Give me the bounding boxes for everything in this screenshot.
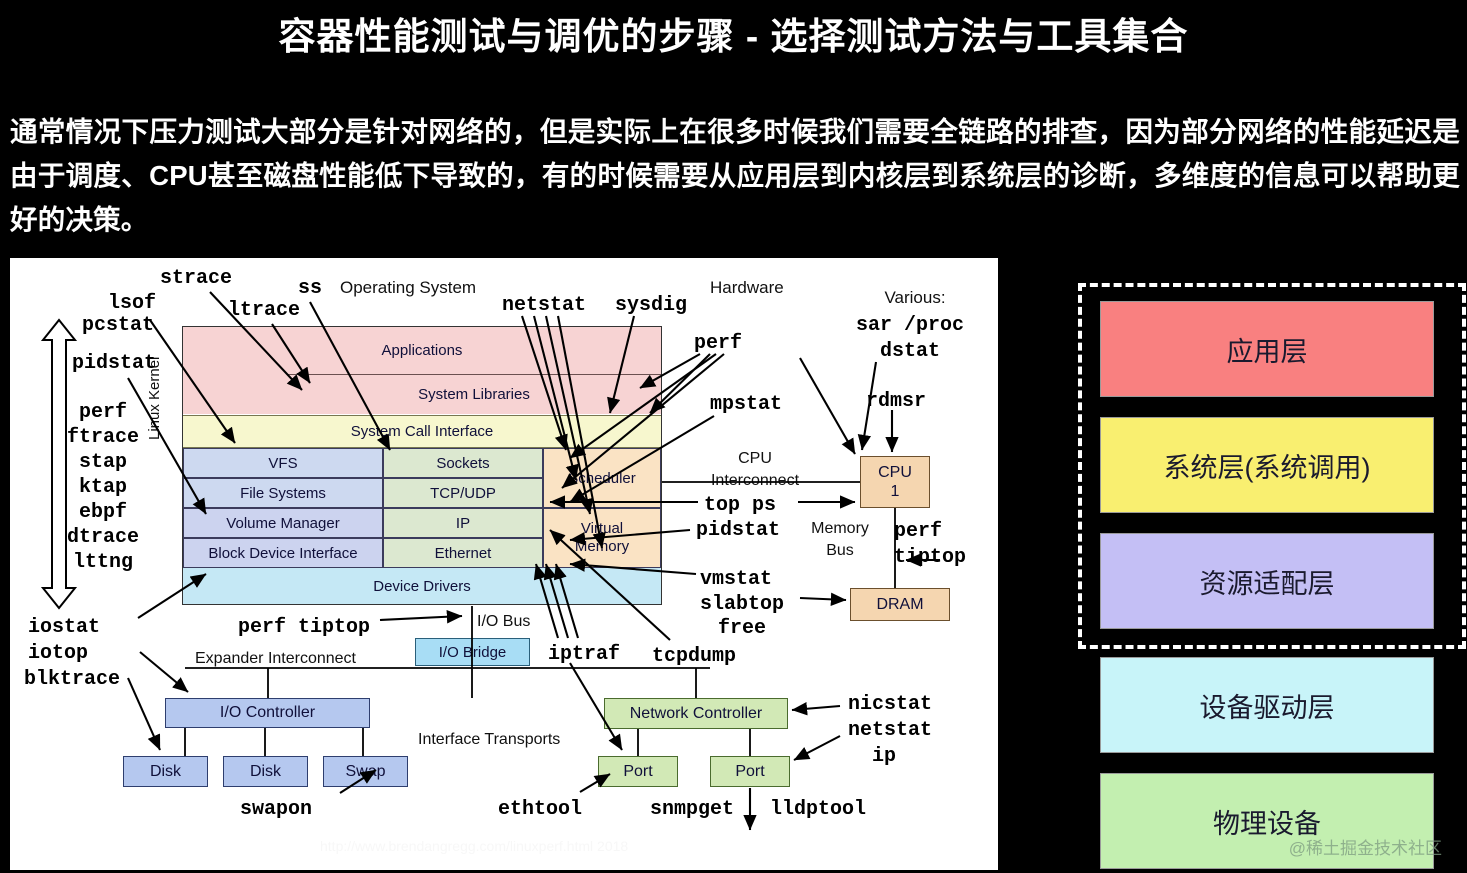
tool-perf-hw: perf: [694, 332, 742, 355]
slide-root: 容器性能测试与调优的步骤 - 选择测试方法与工具集合 通常情况下压力测试大部分是…: [0, 0, 1467, 873]
tool-rdmsr: rdmsr: [866, 390, 926, 413]
box-scheduler: Scheduler: [543, 448, 661, 508]
tool-dtrace: dtrace: [48, 525, 158, 550]
label-hardware: Hardware: [710, 278, 784, 298]
box-device-drivers: Device Drivers: [183, 568, 661, 604]
tool-slabtop: slabtop: [700, 593, 784, 616]
tool-dstat: dstat: [830, 340, 990, 363]
box-volume-manager: Volume Manager: [183, 508, 383, 538]
cpu-interconnect-line1: CPU: [700, 448, 810, 470]
tool-lldptool: lldptool: [770, 798, 866, 821]
tool-swapon: swapon: [240, 798, 312, 821]
tool-sysdig: sysdig: [615, 294, 687, 317]
tool-free: free: [718, 617, 766, 640]
tool-pidstat-mid: pidstat: [696, 519, 780, 542]
label-various: Various:: [855, 288, 975, 308]
box-tcp-udp: TCP/UDP: [383, 478, 543, 508]
community-watermark: @稀土掘金技术社区: [1289, 834, 1442, 859]
tool-sar-proc: sar /proc: [830, 314, 990, 337]
label-cpu-interconnect: CPU Interconnect: [700, 448, 810, 492]
box-file-systems: File Systems: [183, 478, 383, 508]
tool-perf-mem: perf: [894, 520, 942, 543]
box-system-call-interface: System Call Interface: [183, 415, 661, 448]
cpu-interconnect-line2: Interconnect: [700, 470, 810, 492]
tool-kernel-tracer-list: perf ftrace stap ktap ebpf dtrace lttng: [48, 400, 158, 575]
tool-tcpdump: tcpdump: [652, 645, 736, 668]
linux-performance-observability-diagram: Operating System Hardware Various: Linux…: [10, 258, 998, 870]
tool-ss: ss: [298, 277, 322, 300]
tool-nicstat: nicstat: [848, 693, 932, 716]
label-io-bus: I/O Bus: [477, 613, 530, 631]
box-disk-b: Disk: [223, 756, 308, 787]
tool-blktrace: blktrace: [24, 668, 120, 691]
tool-tiptop-mem: tiptop: [894, 546, 966, 569]
tool-ftrace: ftrace: [48, 425, 158, 450]
legend-item-resource-layer[interactable]: 资源适配层: [1100, 533, 1434, 629]
tool-iotop: iotop: [28, 642, 88, 665]
tool-ltrace: ltrace: [228, 299, 300, 322]
tool-perf-kernel: perf: [48, 400, 158, 425]
box-io-controller: I/O Controller: [165, 698, 370, 728]
box-network-controller: Network Controller: [604, 698, 788, 729]
legend-item-device-driver-layer[interactable]: 设备驱动层: [1100, 657, 1434, 753]
tool-pcstat: pcstat: [82, 314, 154, 337]
box-port-a: Port: [598, 756, 678, 787]
memory-bus-line1: Memory: [800, 518, 880, 540]
tool-iostat: iostat: [28, 616, 100, 639]
tool-perf-tiptop-io: perf tiptop: [238, 616, 370, 639]
tool-vmstat: vmstat: [700, 568, 772, 591]
legend-item-system-layer[interactable]: 系统层(系统调用): [1100, 417, 1434, 513]
label-expander-interconnect: Expander Interconnect: [195, 650, 356, 668]
tool-netstat-net: netstat: [848, 719, 932, 742]
applications-fill: [183, 374, 287, 414]
virtual-memory-line1: Virtual: [581, 520, 623, 538]
cpu-line2: 1: [891, 482, 900, 501]
label-memory-bus: Memory Bus: [800, 518, 880, 562]
box-vfs: VFS: [183, 448, 383, 478]
box-virtual-memory: Virtual Memory: [543, 508, 661, 568]
tool-netstat-top: netstat: [502, 294, 586, 317]
box-sockets: Sockets: [383, 448, 543, 478]
body-paragraph: 通常情况下压力测试大部分是针对网络的，但是实际上在很多时候我们需要全链路的排查，…: [10, 110, 1460, 242]
tool-ethtool: ethtool: [498, 798, 582, 821]
box-cpu1: CPU 1: [860, 456, 930, 508]
tool-ebpf: ebpf: [48, 500, 158, 525]
box-ethernet: Ethernet: [383, 538, 543, 568]
label-operating-system: Operating System: [340, 278, 476, 298]
tool-mpstat: mpstat: [710, 393, 782, 416]
cpu-line1: CPU: [878, 463, 912, 482]
tool-top-ps: top ps: [704, 494, 776, 517]
box-applications: Applications: [183, 327, 661, 374]
legend-item-application-layer[interactable]: 应用层: [1100, 301, 1434, 397]
box-ip: IP: [383, 508, 543, 538]
tool-lttng: lttng: [48, 550, 158, 575]
tool-ktap: ktap: [48, 475, 158, 500]
tool-strace: strace: [160, 267, 232, 290]
box-swap: Swap: [323, 756, 408, 787]
layer-legend: 应用层 系统层(系统调用) 资源适配层 设备驱动层 物理设备 @稀土掘金技术社区: [1078, 283, 1458, 867]
tool-ip: ip: [872, 745, 896, 768]
box-io-bridge: I/O Bridge: [415, 638, 530, 666]
box-system-libraries: System Libraries: [286, 374, 661, 414]
tool-stap: stap: [48, 450, 158, 475]
box-block-device-interface: Block Device Interface: [183, 538, 383, 568]
box-dram: DRAM: [850, 588, 950, 621]
box-port-b: Port: [710, 756, 790, 787]
box-disk-a: Disk: [123, 756, 208, 787]
page-title: 容器性能测试与调优的步骤 - 选择测试方法与工具集合: [0, 6, 1467, 60]
tool-iptraf: iptraf: [548, 643, 620, 666]
tool-snmpget: snmpget: [650, 798, 734, 821]
source-url-watermark: http://www.brendangregg.com/linuxperf.ht…: [320, 838, 628, 854]
memory-bus-line2: Bus: [800, 540, 880, 562]
tool-lsof: lsof: [108, 292, 156, 315]
virtual-memory-line2: Memory: [575, 538, 629, 556]
label-interface-transports: Interface Transports: [418, 731, 560, 749]
tool-pidstat-top: pidstat: [72, 352, 156, 375]
